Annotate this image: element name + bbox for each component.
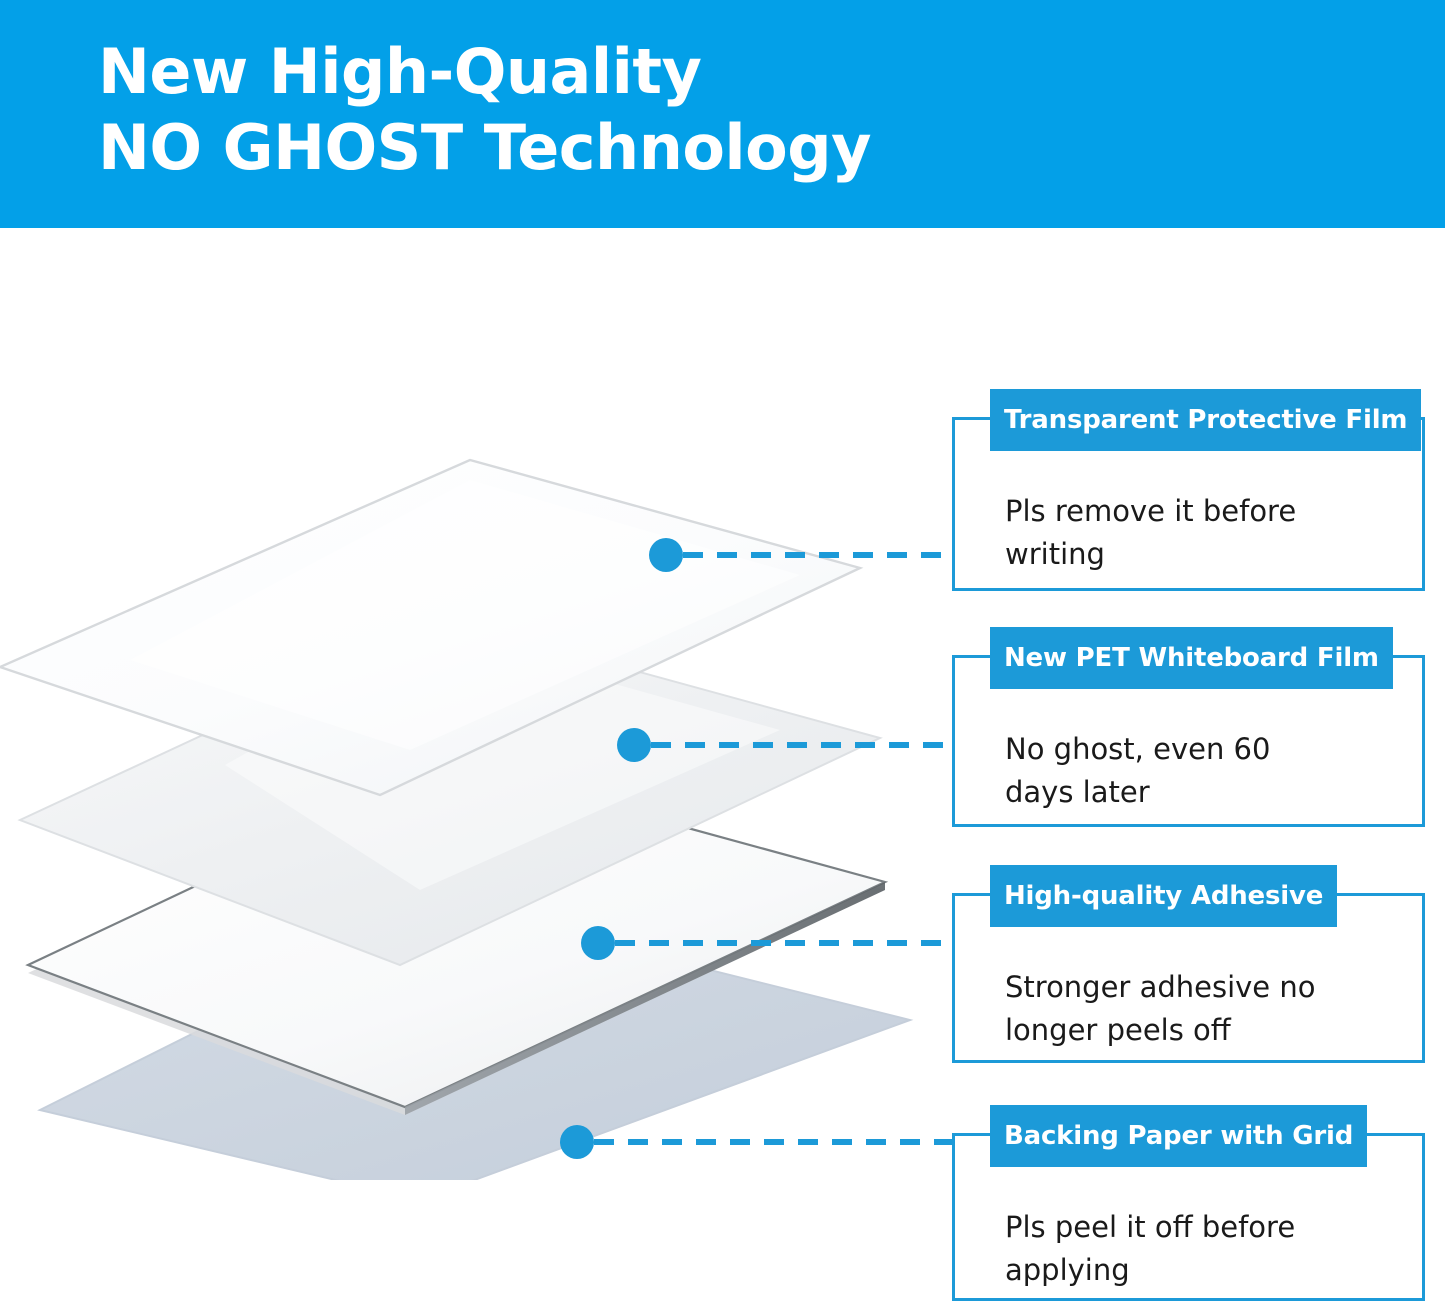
connector-dash-2 xyxy=(651,742,955,748)
callout-body-pet-whiteboard-film: No ghost, even 60 days later xyxy=(1005,728,1395,814)
exploded-layer-illustration xyxy=(0,420,940,1180)
connector-line-2 xyxy=(629,742,955,748)
connector-dot-1 xyxy=(649,538,683,572)
connector-line-1 xyxy=(661,552,955,558)
page-title: New High-Quality NO GHOST Technology xyxy=(98,34,1198,186)
infographic-page: New High-Quality NO GHOST Technology xyxy=(0,0,1445,1308)
callout-heading-high-quality-adhesive: High-quality Adhesive xyxy=(990,865,1337,927)
callout-heading-pet-whiteboard-film: New PET Whiteboard Film xyxy=(990,627,1393,689)
callout-heading-transparent-protective-film: Transparent Protective Film xyxy=(990,389,1421,451)
callout-heading-backing-paper-with-grid: Backing Paper with Grid xyxy=(990,1105,1367,1167)
callout-backing-paper-with-grid: Backing Paper with Grid Pls peel it off … xyxy=(952,1133,1425,1301)
connector-line-3 xyxy=(593,940,955,946)
connector-dash-1 xyxy=(683,552,955,558)
connector-dot-3 xyxy=(581,926,615,960)
callout-transparent-protective-film: Transparent Protective Film Pls remove i… xyxy=(952,417,1425,591)
connector-dash-3 xyxy=(615,940,955,946)
connector-line-4 xyxy=(572,1139,955,1145)
callout-high-quality-adhesive: High-quality Adhesive Stronger adhesive … xyxy=(952,893,1425,1063)
callout-body-transparent-protective-film: Pls remove it before writing xyxy=(1005,490,1395,576)
connector-dash-4 xyxy=(594,1139,955,1145)
connector-dot-2 xyxy=(617,728,651,762)
callout-body-high-quality-adhesive: Stronger adhesive no longer peels off xyxy=(1005,966,1395,1052)
callout-body-backing-paper-with-grid: Pls peel it off before applying xyxy=(1005,1206,1395,1292)
connector-dot-4 xyxy=(560,1125,594,1159)
header-banner: New High-Quality NO GHOST Technology xyxy=(0,0,1445,228)
callout-pet-whiteboard-film: New PET Whiteboard Film No ghost, even 6… xyxy=(952,655,1425,827)
